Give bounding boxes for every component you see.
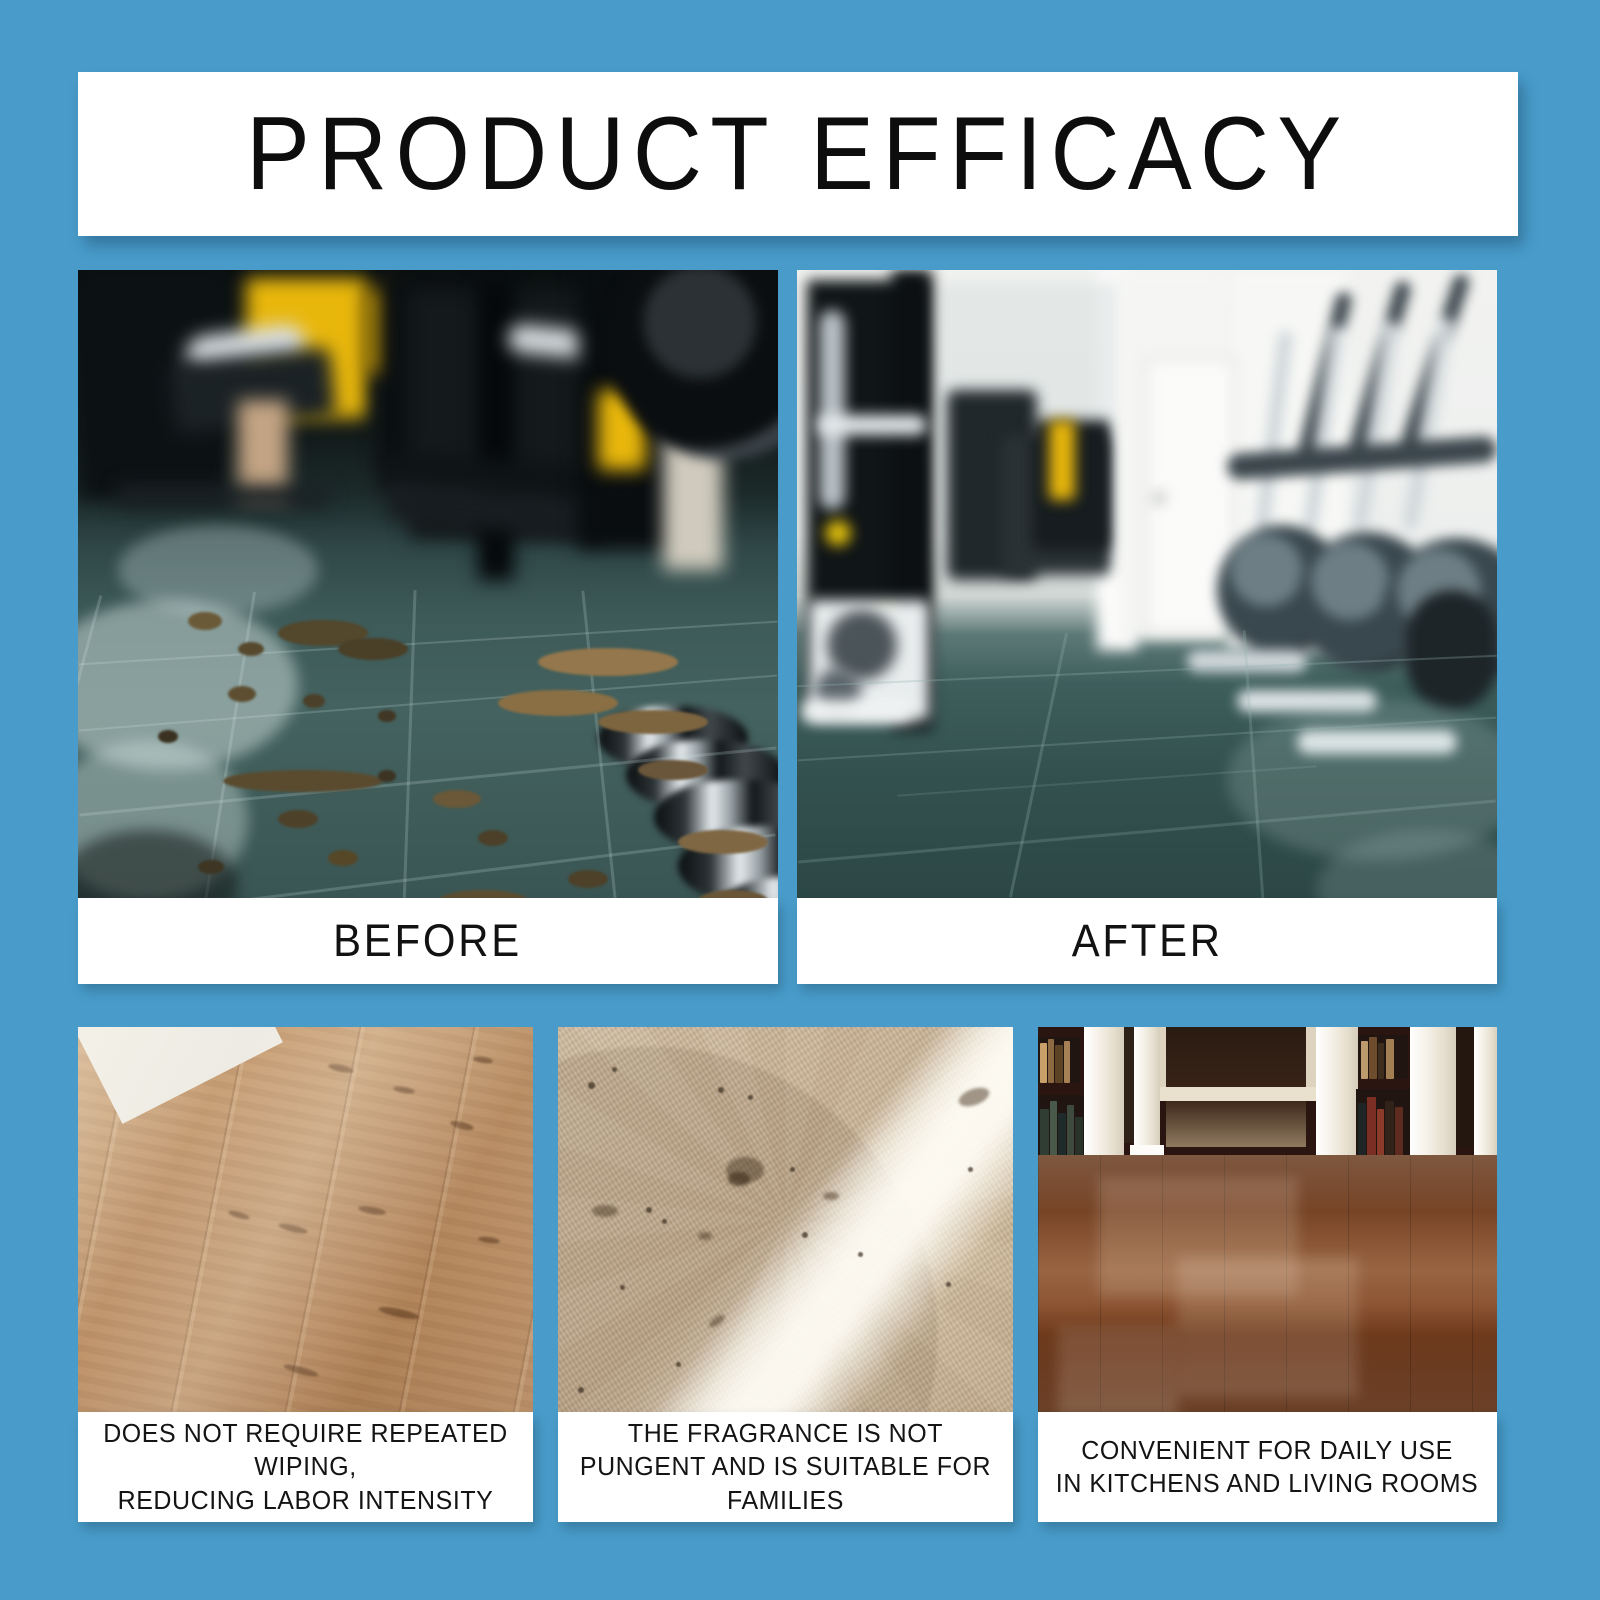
after-caption-bar: AFTER [797, 898, 1497, 984]
page-title: PRODUCT EFFICACY [246, 102, 1350, 206]
benefit-caption-line-1: CONVENIENT FOR DAILY USE [1056, 1434, 1478, 1467]
wood-gloss-highlight [78, 1027, 533, 1412]
benefit-caption-hallway: CONVENIENT FOR DAILY USE IN KITCHENS AND… [1038, 1412, 1497, 1522]
benefit-photo-wood-floor [78, 1027, 533, 1412]
door-handle [1153, 492, 1165, 504]
title-bar: PRODUCT EFFICACY [78, 72, 1518, 236]
benefit-caption-wood: DOES NOT REQUIRE REPEATED WIPING, REDUCI… [78, 1412, 533, 1522]
after-photo [797, 270, 1497, 898]
column-left-far [1134, 1027, 1160, 1153]
wet-patch [118, 525, 318, 615]
floor-gloss-overlay [1038, 1155, 1497, 1412]
bookshelf-upper-left [1038, 1037, 1080, 1083]
before-caption-text: BEFORE [334, 915, 523, 967]
benefit-caption-carpet: THE FRAGRANCE IS NOT PUNGENT AND IS SUIT… [558, 1412, 1013, 1522]
far-trim [1158, 1087, 1328, 1101]
gym-machine-upright [478, 280, 514, 580]
cable-machine-rail [819, 310, 845, 510]
benefit-caption-line-2: REDUCING LABOR INTENSITY [93, 1484, 518, 1517]
benefit-caption-line-1: THE FRAGRANCE IS NOT [573, 1417, 998, 1450]
before-caption-bar: BEFORE [78, 898, 778, 984]
benefit-caption-line-2: PUNGENT AND IS SUITABLE FOR FAMILIES [573, 1450, 998, 1517]
yellow-pin-1 [825, 520, 851, 546]
benefit-caption-line-2: IN KITCHENS AND LIVING ROOMS [1056, 1467, 1478, 1500]
after-caption-text: AFTER [1071, 915, 1222, 967]
benefit-photo-carpet [558, 1027, 1013, 1412]
bookshelf-upper-right [1358, 1035, 1408, 1079]
bench-base [118, 485, 328, 507]
benefit-photo-hallway [1038, 1027, 1497, 1412]
benefit-caption-line-1: DOES NOT REQUIRE REPEATED WIPING, [93, 1417, 518, 1484]
cable-machine-handle-bar [817, 415, 927, 435]
yellow-equipment-pole [1049, 420, 1075, 500]
before-photo [78, 270, 778, 898]
